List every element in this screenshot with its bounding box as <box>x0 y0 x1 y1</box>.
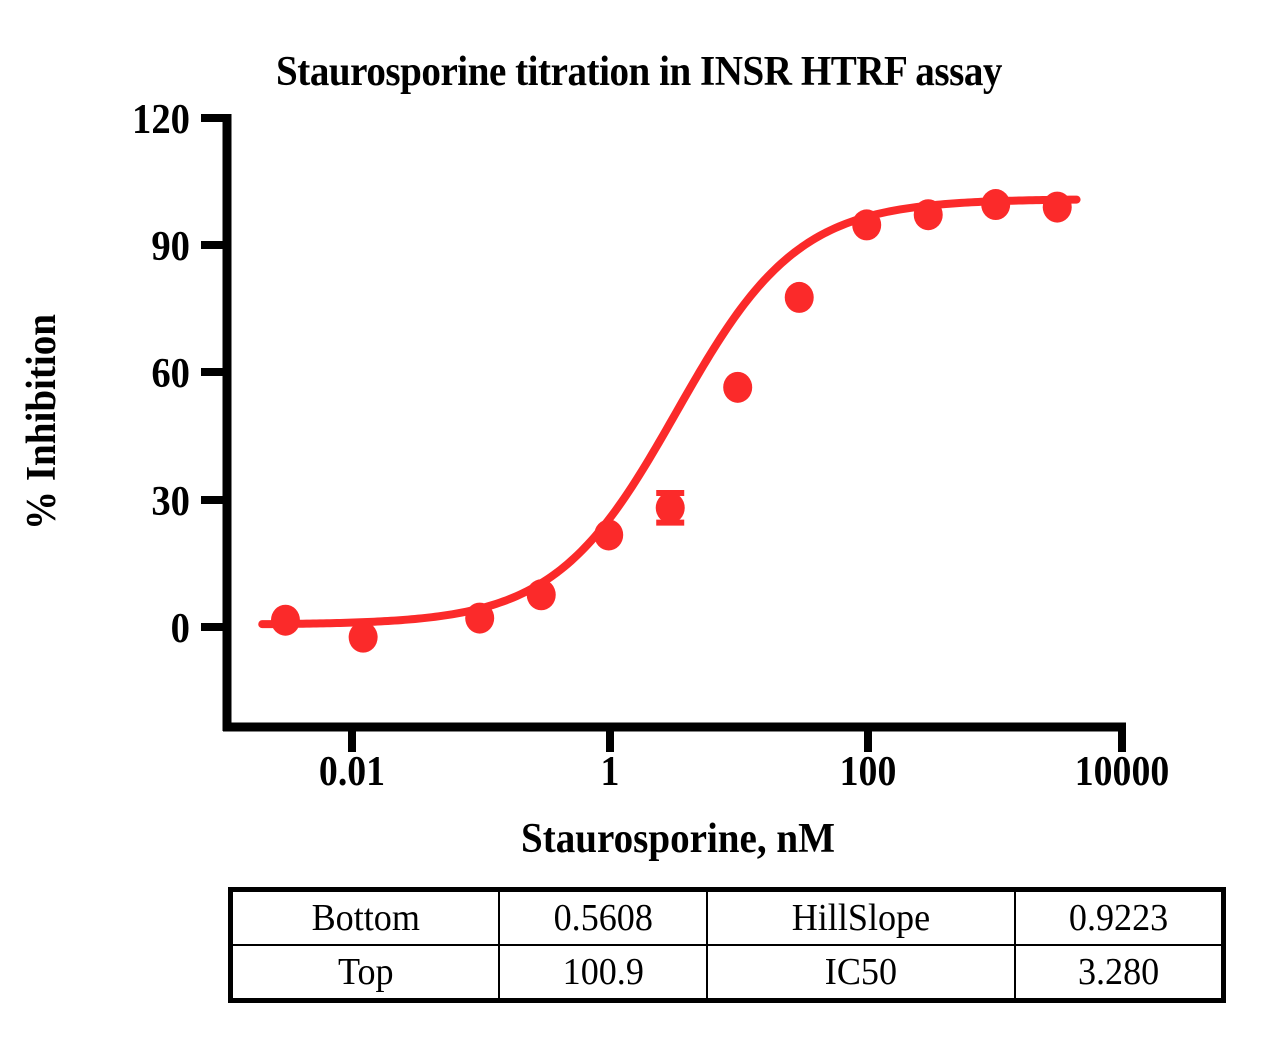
param-value-top: 100.9 <box>504 945 702 1001</box>
data-point <box>914 199 943 230</box>
param-name-top: Top <box>237 945 492 1001</box>
x-tick-label-10000: 10000 <box>1014 748 1230 796</box>
data-point <box>271 605 300 636</box>
data-point <box>349 622 378 653</box>
data-point <box>465 603 494 634</box>
data-point <box>852 209 881 240</box>
y-tick-label-120: 120 <box>34 96 190 144</box>
fit-curve-line <box>262 200 1076 625</box>
y-tick-label-90: 90 <box>34 223 190 271</box>
parameter-table: Bottom 0.5608 HillSlope 0.9223 Top 100.9… <box>228 887 1226 1003</box>
x-tick-label-0.01: 0.01 <box>244 748 460 796</box>
param-value-bottom: 0.5608 <box>504 890 702 946</box>
y-axis-title: % Inhibition <box>18 273 66 571</box>
param-value-hillslope: 0.9223 <box>1020 890 1218 946</box>
data-point <box>1043 192 1072 223</box>
x-tick-label-1: 1 <box>502 748 718 796</box>
data-point <box>527 579 556 610</box>
param-name-ic50: IC50 <box>715 945 1007 1001</box>
table-row: Top 100.9 IC50 3.280 <box>231 945 1224 1001</box>
y-tick-label-0: 0 <box>34 605 190 653</box>
x-tick-label-100: 100 <box>760 748 976 796</box>
table-row: Bottom 0.5608 HillSlope 0.9223 <box>231 890 1224 946</box>
data-point <box>594 519 623 550</box>
data-point <box>656 492 685 523</box>
data-point <box>981 189 1010 220</box>
chart-figure: Staurosporine titration in INSR HTRF ass… <box>0 0 1278 1050</box>
param-value-ic50: 3.280 <box>1020 945 1218 1001</box>
param-name-hillslope: HillSlope <box>715 890 1007 946</box>
data-point <box>723 372 752 403</box>
param-name-bottom: Bottom <box>237 890 492 946</box>
x-axis-title: Staurosporine, nM <box>260 815 1097 863</box>
data-point <box>785 282 814 313</box>
